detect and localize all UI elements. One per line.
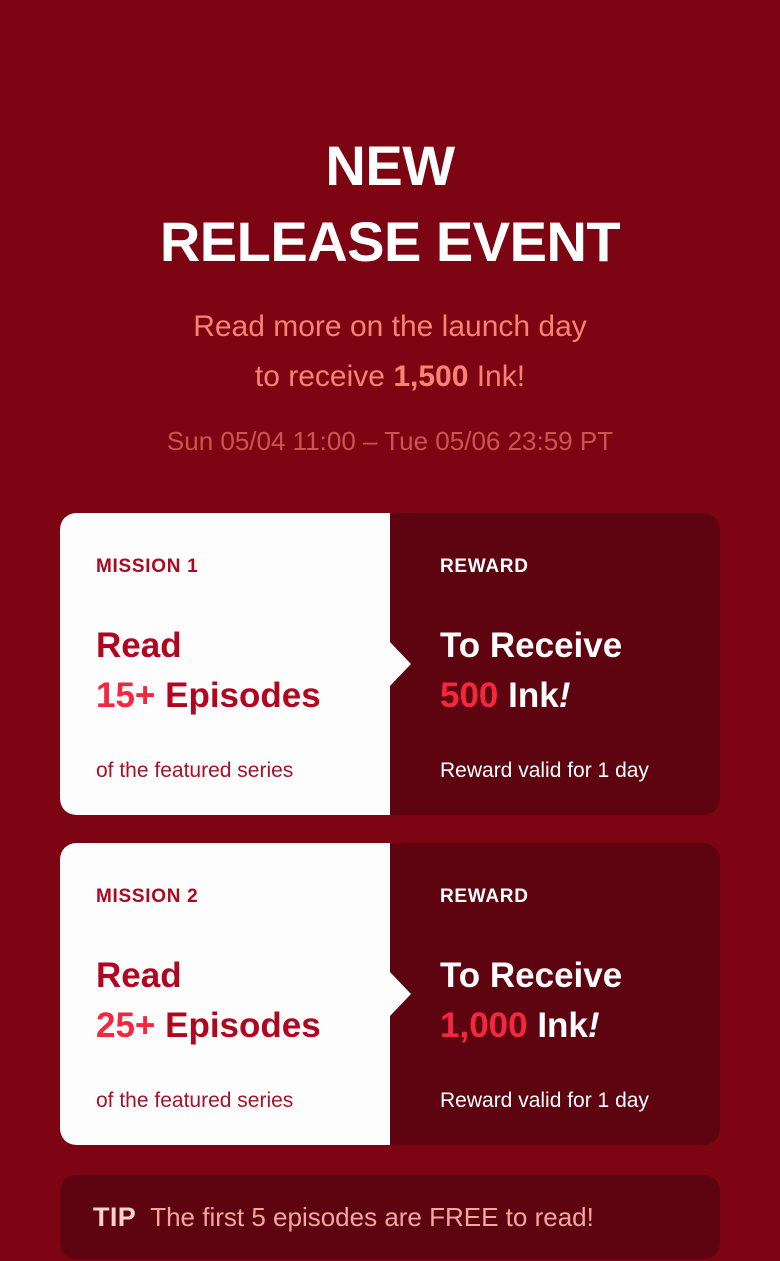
tip-text: The first 5 episodes are FREE to read! [150,1202,594,1233]
tip-label: TIP [93,1202,136,1233]
reward-kicker: REWARD [440,555,684,579]
mission-headline-line-1: Read [96,621,354,671]
mission-list: MISSION 1 Read 15+ Episodes of the featu… [0,513,780,1145]
hero-subtitle: Read more on the launch day to receive 1… [0,302,780,402]
mission-episode-count: 25+ [96,1006,155,1045]
subtitle-suffix: Ink! [468,360,525,393]
mission-headline-line-1: Read [96,951,354,1001]
reward-headline: To Receive 500 Ink! [440,621,684,721]
subtitle-ink-amount: 1,500 [393,360,468,393]
mission-episode-count: 15+ [96,676,155,715]
reward-panel: REWARD To Receive 1,000 Ink! Reward vali… [390,843,720,1145]
mission-headline: Read 15+ Episodes [96,621,354,721]
reward-headline: To Receive 1,000 Ink! [440,951,684,1051]
reward-footnote: Reward valid for 1 day [440,757,684,785]
tip-banner: TIP The first 5 episodes are FREE to rea… [60,1175,720,1259]
event-page: NEW RELEASE EVENT Read more on the launc… [0,0,780,1261]
mission-card[interactable]: MISSION 2 Read 25+ Episodes of the featu… [60,843,720,1145]
subtitle-line-1: Read more on the launch day [0,302,780,352]
mission-detail-panel: MISSION 1 Read 15+ Episodes of the featu… [60,513,390,815]
mission-card[interactable]: MISSION 1 Read 15+ Episodes of the featu… [60,513,720,815]
reward-exclamation: ! [588,1006,600,1045]
mission-footnote: of the featured series [96,1087,354,1115]
reward-ink-unit: Ink [498,676,558,715]
subtitle-line-2: to receive 1,500 Ink! [0,352,780,402]
mission-headline: Read 25+ Episodes [96,951,354,1051]
mission-episode-unit: Episodes [155,676,320,715]
mission-episode-unit: Episodes [155,1006,320,1045]
reward-footnote: Reward valid for 1 day [440,1087,684,1115]
reward-ink-amount: 500 [440,676,498,715]
reward-ink-amount: 1,000 [440,1006,528,1045]
mission-headline-line-2: 25+ Episodes [96,1001,354,1051]
subtitle-prefix: to receive [255,360,393,393]
mission-footnote: of the featured series [96,757,354,785]
chevron-right-icon [389,641,411,687]
chevron-right-icon [389,971,411,1017]
reward-headline-line-2: 1,000 Ink! [440,1001,684,1051]
mission-kicker: MISSION 2 [96,885,354,909]
hero-section: NEW RELEASE EVENT Read more on the launc… [0,0,780,458]
reward-panel: REWARD To Receive 500 Ink! Reward valid … [390,513,720,815]
reward-headline-line-1: To Receive [440,951,684,1001]
title-line-2: RELEASE EVENT [0,204,780,280]
reward-exclamation: ! [559,676,571,715]
mission-detail-panel: MISSION 2 Read 25+ Episodes of the featu… [60,843,390,1145]
event-date-range: Sun 05/04 11:00 – Tue 05/06 23:59 PT [0,424,780,458]
mission-headline-line-2: 15+ Episodes [96,671,354,721]
mission-kicker: MISSION 1 [96,555,354,579]
title-line-1: NEW [0,128,780,204]
reward-ink-unit: Ink [528,1006,588,1045]
page-title: NEW RELEASE EVENT [0,128,780,280]
reward-kicker: REWARD [440,885,684,909]
reward-headline-line-1: To Receive [440,621,684,671]
reward-headline-line-2: 500 Ink! [440,671,684,721]
